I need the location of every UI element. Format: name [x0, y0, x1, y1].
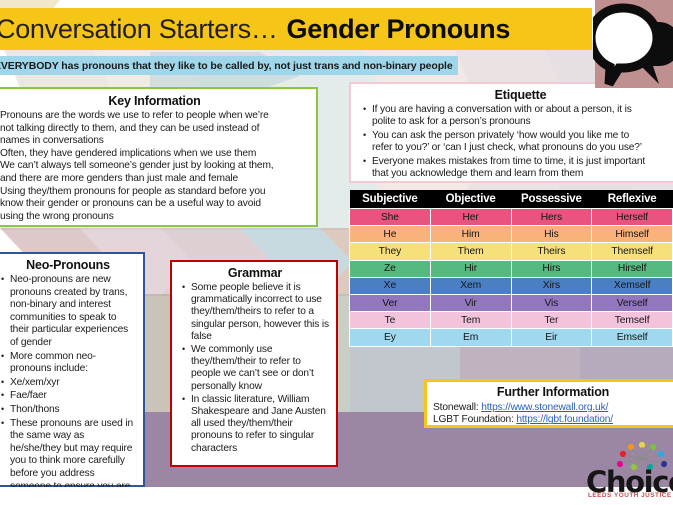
column-header-possessive: Possessive — [511, 190, 592, 209]
page-title-light: Conversation Starters… — [0, 14, 278, 45]
etiquette-bullet: If you are having a conversation with or… — [372, 104, 673, 129]
table-cell: They — [350, 243, 431, 260]
etiquette-card: Etiquette If you are having a conversati… — [349, 82, 673, 183]
key-information-line: and there are more genders than just mal… — [0, 173, 309, 186]
table-cell: She — [350, 209, 431, 226]
table-cell: Herself — [592, 209, 673, 226]
table-cell: Hirs — [511, 260, 592, 277]
subtitle-text: EVERYBODY has pronouns that they like to… — [0, 60, 453, 72]
table-cell: Ver — [350, 294, 431, 311]
table-cell: Theirs — [511, 243, 592, 260]
neo-pronouns-heading: Neo-Pronouns — [0, 258, 137, 272]
table-cell: Him — [430, 226, 511, 243]
neo-pronouns-bullet-list: Neo-pronouns are new pronouns created by… — [0, 274, 137, 505]
key-information-line: Often, they have gendered implications w… — [0, 148, 309, 161]
table-cell: Xemself — [592, 277, 673, 294]
table-cell: Her — [430, 209, 511, 226]
infographic-poster: Conversation Starters… Gender Pronouns E… — [0, 0, 673, 505]
table-cell: Ey — [350, 329, 431, 346]
table-cell: Eir — [511, 329, 592, 346]
table-cell: Xe — [350, 277, 431, 294]
grammar-bullet: We commonly use they/them/their to refer… — [191, 344, 330, 393]
etiquette-bullet-line: You can ask the person privately ‘how wo… — [372, 130, 629, 141]
table-cell: His — [511, 226, 592, 243]
table-cell: Te — [350, 312, 431, 329]
etiquette-bullet-line: that you acknowledge them and learn from… — [372, 168, 583, 179]
speech-bubbles — [593, 0, 673, 88]
page-title-bold: Gender Pronouns — [287, 14, 511, 45]
etiquette-bullet-line: polite to ask for a person’s pronouns — [372, 116, 531, 127]
neo-pronouns-bullet: Thon/thons — [10, 404, 137, 417]
grammar-bullet-list: Some people believe it is grammatically … — [180, 282, 330, 455]
grammar-bullet: In classic literature, William Shakespea… — [191, 394, 330, 455]
further-information-card: Further Information Stonewall: https://w… — [424, 379, 673, 428]
table-cell: Xirs — [511, 277, 592, 294]
pronoun-table-body: SheHerHersHerselfHeHimHisHimselfTheyThem… — [350, 209, 673, 347]
table-cell: Tem — [430, 312, 511, 329]
table-cell: Ze — [350, 260, 431, 277]
column-header-objective: Objective — [430, 190, 511, 209]
table-row: TeTemTerTemself — [350, 312, 673, 329]
etiquette-bullet-line: refer to you?’ or ‘can I just check, wha… — [372, 142, 642, 153]
table-row: HeHimHisHimself — [350, 226, 673, 243]
table-cell: Hers — [511, 209, 592, 226]
table-header-row: Subjective Objective Possessive Reflexiv… — [350, 190, 673, 209]
table-row: VerVirVisVerself — [350, 294, 673, 311]
bottom-margin — [0, 487, 673, 505]
table-cell: Ter — [511, 312, 592, 329]
lgbt-foundation-link[interactable]: https://lgbt.foundation/ — [516, 414, 613, 425]
etiquette-heading: Etiquette — [361, 88, 673, 102]
table-row: TheyThemTheirsThemself — [350, 243, 673, 260]
pronoun-table: Subjective Objective Possessive Reflexiv… — [349, 190, 673, 347]
etiquette-bullet-list: If you are having a conversation with or… — [361, 104, 673, 180]
stonewall-link[interactable]: https://www.stonewall.org.uk/ — [481, 402, 608, 413]
table-cell: Themself — [592, 243, 673, 260]
table-row: XeXemXirsXemself — [350, 277, 673, 294]
etiquette-bullet: Everyone makes mistakes from time to tim… — [372, 156, 673, 181]
neo-pronouns-bullet: Xe/xem/xyr — [10, 377, 137, 390]
further-information-entry: LGBT Foundation: https://lgbt.foundation… — [433, 414, 673, 426]
table-cell: Himself — [592, 226, 673, 243]
poster-title-bar: Conversation Starters… Gender Pronouns — [0, 8, 592, 50]
further-information-label: Stonewall: — [433, 402, 481, 413]
table-row: ZeHirHirsHirself — [350, 260, 673, 277]
table-cell: Em — [430, 329, 511, 346]
further-information-label: LGBT Foundation: — [433, 414, 516, 425]
key-information-card: Key Information Pronouns are the words w… — [0, 87, 318, 227]
neo-pronouns-bullet: More common neo-pronouns include: — [10, 351, 137, 376]
etiquette-bullet: You can ask the person privately ‘how wo… — [372, 130, 673, 155]
grammar-card: Grammar Some people believe it is gramma… — [170, 260, 338, 467]
grammar-heading: Grammar — [180, 266, 330, 280]
etiquette-bullet-line: If you are having a conversation with or… — [372, 104, 632, 115]
table-cell: Hir — [430, 260, 511, 277]
grammar-bullet: Some people believe it is grammatically … — [191, 282, 330, 343]
table-cell: Them — [430, 243, 511, 260]
table-cell: Xem — [430, 277, 511, 294]
table-cell: Temself — [592, 312, 673, 329]
table-row: SheHerHersHerself — [350, 209, 673, 226]
table-cell: Verself — [592, 294, 673, 311]
pronoun-table-head: Subjective Objective Possessive Reflexiv… — [350, 190, 673, 209]
neo-pronouns-bullet: Neo-pronouns are new pronouns created by… — [10, 274, 137, 350]
column-header-reflexive: Reflexive — [592, 190, 673, 209]
etiquette-bullet-line: Everyone makes mistakes from time to tim… — [372, 156, 645, 167]
neo-pronouns-card: Neo-Pronouns Neo-pronouns are new pronou… — [0, 252, 145, 487]
table-cell: Hirself — [592, 260, 673, 277]
further-information-entry: Stonewall: https://www.stonewall.org.uk/ — [433, 402, 673, 414]
subtitle-banner: EVERYBODY has pronouns that they like to… — [0, 56, 458, 75]
key-information-line: using the wrong pronouns — [0, 211, 309, 224]
key-information-line: not talking directly to them, and they c… — [0, 123, 309, 136]
table-cell: He — [350, 226, 431, 243]
further-information-heading: Further Information — [433, 385, 673, 399]
table-cell: Vis — [511, 294, 592, 311]
key-information-line: Using they/them pronouns for people as s… — [0, 186, 309, 199]
key-information-line: Pronouns are the words we use to refer t… — [0, 110, 309, 123]
table-row: EyEmEirEmself — [350, 329, 673, 346]
choices-logo: Choices LEEDS YOUTH JUSTICE SERVICE — [586, 444, 673, 502]
key-information-line: names in conversations — [0, 135, 309, 148]
table-cell: Vir — [430, 294, 511, 311]
key-information-line: know their gender or pronouns can be a u… — [0, 198, 309, 211]
table-cell: Emself — [592, 329, 673, 346]
logo-subtitle: LEEDS YOUTH JUSTICE SERVICE — [588, 492, 673, 499]
speech-bubbles-icon — [593, 0, 673, 88]
column-header-subjective: Subjective — [350, 190, 431, 209]
key-information-line: We can’t always tell someone’s gender ju… — [0, 160, 309, 173]
neo-pronouns-bullet: Fae/faer — [10, 390, 137, 403]
key-information-heading: Key Information — [0, 94, 309, 108]
